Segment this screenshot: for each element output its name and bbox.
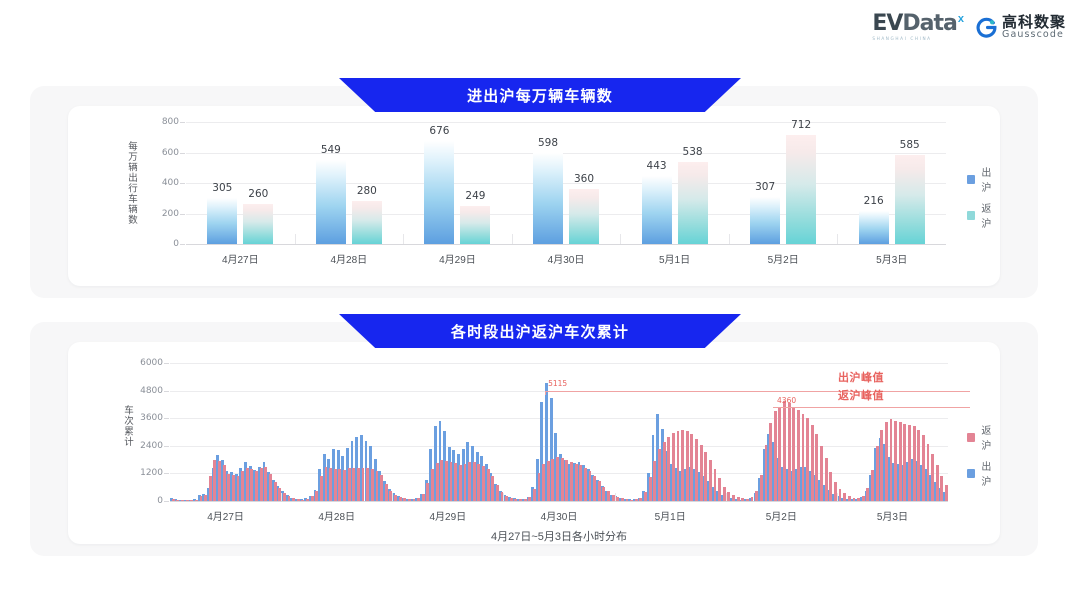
hour-bar-back — [459, 465, 462, 501]
hour-bar-back — [890, 419, 893, 501]
gausscode-logo: 高科数聚 Gausscode — [976, 15, 1066, 40]
bar-value-label: 598 — [538, 137, 558, 149]
hour-bar-back — [376, 471, 379, 501]
bar-value-label: 216 — [864, 195, 884, 207]
card-chart-2: 012002400360048006000车次累计4月27日4月28日4月29日… — [68, 342, 1000, 544]
hour-bar-back — [704, 452, 707, 501]
hour-bar-back — [829, 472, 832, 501]
peak-value-out: 5115 — [548, 379, 567, 388]
y-tick-mark — [164, 391, 169, 392]
y-tick-mark — [180, 183, 185, 184]
hour-bar-back — [727, 492, 730, 501]
x-tick-label: 5月2日 — [768, 251, 799, 266]
hour-bar-back — [514, 499, 517, 501]
chart-2-legend: 返沪出沪 — [967, 422, 1000, 488]
panel-chart-1: 0200400600800每万辆出行车辆数3052604月27日5492804月… — [30, 86, 1038, 298]
y-tick-label: 1200 — [140, 468, 163, 478]
y-tick-label: 0 — [173, 239, 179, 249]
hour-bar-back — [903, 424, 906, 501]
evdata-logo: EVData x SHANGHAI CHINA — [872, 13, 964, 41]
hour-bar-back — [815, 434, 818, 501]
hour-bar-back — [570, 462, 573, 501]
hour-bar-back — [269, 474, 272, 501]
axis-baseline — [170, 501, 948, 502]
hour-bar-back — [274, 482, 277, 501]
hour-bar-back — [940, 476, 943, 501]
x-tick-label: 4月30日 — [541, 508, 578, 523]
hour-bar-back — [862, 496, 865, 501]
hour-bar-back — [352, 468, 355, 501]
hour-bar-back — [755, 491, 758, 501]
hour-bar-back — [348, 468, 351, 501]
hour-bar-back — [547, 461, 550, 501]
legend-label: 出沪 — [981, 458, 1000, 488]
bar-value-label: 360 — [574, 173, 594, 185]
bar-value-label: 280 — [357, 185, 377, 197]
peak-line-out — [545, 391, 970, 392]
legend-swatch — [967, 469, 975, 478]
gridline — [186, 153, 946, 154]
card-chart-1: 0200400600800每万辆出行车辆数3052604月27日5492804月… — [68, 106, 1000, 286]
legend-swatch — [967, 211, 975, 220]
chart-2-title: 各时段出沪返沪车次累计 — [451, 321, 629, 342]
hour-bar-back — [482, 466, 485, 501]
hour-bar-back — [190, 500, 193, 501]
hour-bar-back — [195, 500, 198, 501]
hour-bar-back — [450, 462, 453, 501]
hour-bar-back — [255, 471, 258, 501]
logo-group: EVData x SHANGHAI CHINA 高科数聚 Gausscode — [872, 13, 1066, 41]
hour-bar-back — [223, 465, 226, 501]
x-group-separator — [729, 234, 730, 244]
bar-返沪: 249 — [460, 206, 490, 244]
hour-bar-back — [667, 437, 670, 501]
hour-bar-back — [565, 460, 568, 501]
hour-bar-back — [320, 476, 323, 501]
hour-bar-back — [283, 493, 286, 501]
hour-bar-back — [200, 496, 203, 501]
slide-root: EVData x SHANGHAI CHINA 高科数聚 Gausscode 0… — [0, 0, 1080, 608]
y-tick-mark — [164, 363, 169, 364]
x-group-separator — [403, 234, 404, 244]
panel-chart-2: 012002400360048006000车次累计4月27日4月28日4月29日… — [30, 322, 1038, 556]
hour-bar-back — [746, 499, 749, 501]
gridline — [186, 183, 946, 184]
hour-bar-back — [681, 430, 684, 501]
hour-bar-back — [176, 500, 179, 501]
hour-bar-back — [760, 475, 763, 501]
x-group-separator — [281, 493, 282, 501]
hour-bar-back — [403, 498, 406, 501]
x-tick-label: 5月2日 — [766, 508, 797, 523]
hour-bar-back — [593, 476, 596, 501]
hour-bar-back — [288, 496, 291, 501]
hour-bar-back — [209, 476, 212, 501]
hour-bar-back — [626, 499, 629, 501]
hour-bar-back — [232, 475, 235, 501]
hour-bar-back — [334, 469, 337, 501]
hour-bar-back — [306, 499, 309, 501]
y-tick-mark — [180, 244, 185, 245]
y-tick-mark — [164, 473, 169, 474]
hour-bar-back — [464, 464, 467, 501]
peak-stem-out — [545, 391, 546, 395]
x-group-separator — [295, 234, 296, 244]
hour-bar-back — [658, 449, 661, 501]
hour-bar-back — [246, 468, 249, 501]
hour-bar-back — [533, 489, 536, 501]
y-tick-mark — [180, 214, 185, 215]
axis-baseline — [186, 244, 946, 245]
chart-2-plot: 012002400360048006000车次累计4月27日4月28日4月29日… — [170, 363, 948, 501]
x-tick-label: 4月29日 — [430, 508, 467, 523]
gausscode-logo-cn: 高科数聚 — [1002, 15, 1066, 30]
hour-bar-back — [848, 496, 851, 501]
y-tick-mark — [164, 446, 169, 447]
bar-出沪: 676 — [424, 141, 454, 244]
y-tick-label: 200 — [162, 209, 179, 219]
x-tick-label: 5月3日 — [877, 508, 908, 523]
hour-bar-back — [908, 425, 911, 501]
hour-bar-back — [598, 481, 601, 501]
hour-bar-back — [936, 465, 939, 501]
y-tick-mark — [164, 418, 169, 419]
legend-swatch — [967, 175, 975, 184]
y-tick-label: 800 — [162, 117, 179, 127]
hour-bar-back — [561, 458, 564, 501]
hour-bar-back — [843, 493, 846, 501]
hour-bar-back — [714, 469, 717, 501]
evdata-logo-ev: EV — [872, 11, 902, 36]
hour-bar-back — [695, 439, 698, 501]
bar-出沪: 307 — [750, 197, 780, 244]
hour-bar-back — [880, 430, 883, 501]
hour-bar-back — [366, 468, 369, 501]
hour-bar-back — [802, 414, 805, 501]
hour-bar-back — [737, 497, 740, 501]
x-group-separator — [837, 493, 838, 501]
bar-value-label: 676 — [429, 125, 449, 137]
hour-bar-back — [505, 496, 508, 501]
bar-value-label: 538 — [683, 146, 703, 158]
bar-返沪: 712 — [786, 135, 816, 244]
bar-出沪: 443 — [642, 176, 672, 244]
hour-bar-back — [487, 469, 490, 501]
hour-bar-back — [297, 499, 300, 501]
y-tick-mark — [180, 153, 185, 154]
peak-value-back: 4360 — [777, 396, 796, 405]
hour-bar-back — [778, 407, 781, 501]
hour-bar-back — [343, 470, 346, 501]
hour-bar-back — [385, 484, 388, 501]
hour-bar-back — [454, 463, 457, 501]
hour-bar-back — [927, 444, 930, 502]
hour-bar-back — [213, 460, 216, 501]
hour-bar-back — [371, 469, 374, 501]
gridline — [170, 446, 948, 447]
hour-bar-back — [709, 460, 712, 501]
x-tick-label: 4月28日 — [331, 251, 368, 266]
hour-bar-back — [922, 435, 925, 501]
legend-item: 返沪 — [967, 200, 1000, 230]
hour-bar-back — [769, 423, 772, 501]
legend-label: 返沪 — [981, 422, 1000, 452]
y-tick-mark — [180, 122, 185, 123]
hour-bar-back — [357, 468, 360, 501]
hour-bar-back — [237, 476, 240, 501]
hour-bar-back — [445, 461, 448, 501]
bar-value-label: 305 — [212, 182, 232, 194]
y-tick-label: 3600 — [140, 413, 163, 423]
hour-bar-back — [528, 497, 531, 501]
hour-bar-back — [894, 421, 897, 502]
x-group-separator — [512, 234, 513, 244]
y-tick-label: 4800 — [140, 386, 163, 396]
y-tick-label: 400 — [162, 178, 179, 188]
x-group-separator — [620, 234, 621, 244]
hour-bar-back — [431, 469, 434, 501]
x-group-separator — [837, 234, 838, 244]
hour-bar-back — [589, 471, 592, 501]
peak-line-back — [773, 407, 970, 408]
peak-label-out: 出沪峰值 — [838, 369, 884, 385]
hour-bar-back — [811, 425, 814, 501]
bar-value-label: 443 — [647, 160, 667, 172]
hour-bar-back — [468, 462, 471, 501]
hour-bar-back — [866, 488, 869, 501]
hour-bar-back — [602, 487, 605, 501]
hour-bar-back — [732, 495, 735, 501]
hour-bar-back — [653, 461, 656, 501]
hour-bar-back — [218, 461, 221, 501]
x-tick-label: 5月3日 — [876, 251, 907, 266]
x-tick-label: 4月27日 — [207, 508, 244, 523]
bar-出沪: 216 — [859, 211, 889, 244]
evdata-logo-main: EVData x — [872, 13, 964, 35]
hour-bar-back — [765, 445, 768, 501]
chart-1-title-banner: 进出沪每万辆车辆数 — [339, 78, 741, 112]
bar-出沪: 305 — [207, 198, 237, 245]
hour-bar-back — [491, 476, 494, 501]
hour-bar-back — [899, 422, 902, 501]
hour-bar-back — [399, 497, 402, 501]
bar-value-label: 260 — [248, 188, 268, 200]
chart-1-legend: 出沪返沪 — [967, 164, 1000, 230]
hour-bar-back — [690, 434, 693, 501]
chart-1-plot: 0200400600800每万辆出行车辆数3052604月27日5492804月… — [186, 122, 946, 244]
hour-bar-back — [325, 467, 328, 501]
hour-bar-back — [575, 464, 578, 501]
hour-bar-back — [510, 498, 513, 501]
hour-bar-back — [797, 410, 800, 501]
x-tick-label: 5月1日 — [655, 508, 686, 523]
hour-bar-back — [556, 457, 559, 501]
hour-bar-back — [250, 469, 253, 501]
hour-bar-back — [677, 431, 680, 501]
bar-value-label: 307 — [755, 181, 775, 193]
legend-label: 返沪 — [981, 200, 1000, 230]
bar-value-label: 249 — [465, 190, 485, 202]
hour-bar-back — [630, 500, 633, 501]
hour-bar-back — [931, 454, 934, 501]
hour-bar-back — [820, 446, 823, 501]
x-group-separator — [726, 493, 727, 501]
hour-bar-back — [473, 462, 476, 501]
bar-出沪: 598 — [533, 153, 563, 244]
hour-bar-back — [917, 430, 920, 501]
hour-bar-back — [477, 464, 480, 501]
bar-返沪: 260 — [243, 204, 273, 244]
evdata-logo-data: Data — [902, 11, 956, 36]
x-group-separator — [503, 493, 504, 501]
hour-bar-back — [380, 475, 383, 501]
gridline — [170, 418, 948, 419]
hour-bar-back — [857, 498, 860, 501]
hour-bar-back — [788, 403, 791, 501]
hour-bar-back — [718, 478, 721, 501]
hour-bar-back — [519, 499, 522, 501]
bar-返沪: 360 — [569, 189, 599, 244]
evdata-logo-sub: SHANGHAI CHINA — [872, 37, 931, 41]
legend-swatch — [967, 433, 975, 442]
hour-bar-back — [329, 468, 332, 501]
header: EVData x SHANGHAI CHINA 高科数聚 Gausscode — [0, 0, 1080, 62]
bar-value-label: 549 — [321, 144, 341, 156]
x-tick-label: 4月28日 — [318, 508, 355, 523]
hour-bar-back — [417, 498, 420, 501]
legend-item: 出沪 — [967, 458, 1000, 488]
hour-bar-back — [700, 445, 703, 501]
x-tick-label: 4月29日 — [439, 251, 476, 266]
x-group-separator — [392, 493, 393, 501]
hour-bar-back — [607, 491, 610, 501]
gridline — [170, 363, 948, 364]
chart-2-yaxis-label: 车次累计 — [120, 377, 134, 475]
x-tick-label: 4月30日 — [548, 251, 585, 266]
bar-返沪: 538 — [678, 162, 708, 244]
hour-bar-back — [672, 433, 675, 501]
bar-返沪: 585 — [895, 155, 925, 244]
y-tick-label: 0 — [157, 496, 163, 506]
hour-bar-back — [945, 485, 948, 501]
evdata-logo-text: EVData — [872, 13, 957, 35]
chart-2-xaxis-title: 4月27日~5月3日各小时分布 — [491, 528, 627, 544]
hour-bar-back — [440, 460, 443, 501]
y-tick-label: 2400 — [140, 441, 163, 451]
gridline — [186, 122, 946, 123]
hour-bar-back — [292, 498, 295, 501]
hour-bar-back — [301, 500, 304, 501]
hour-bar-back — [413, 499, 416, 501]
hour-bar-back — [315, 491, 318, 501]
hour-bar-back — [885, 422, 888, 501]
y-tick-label: 6000 — [140, 358, 163, 368]
hour-bar-back — [839, 489, 842, 501]
x-group-separator — [615, 493, 616, 501]
hour-bar-back — [181, 500, 184, 501]
peak-label-back: 返沪峰值 — [838, 387, 884, 403]
hour-bar-back — [542, 464, 545, 501]
bar-返沪: 280 — [352, 201, 382, 244]
x-tick-label: 4月27日 — [222, 251, 259, 266]
hour-bar-back — [792, 407, 795, 501]
hour-bar-back — [663, 442, 666, 501]
gridline — [186, 214, 946, 215]
bar-value-label: 712 — [791, 119, 811, 131]
chart-2-title-banner: 各时段出沪返沪车次累计 — [339, 314, 741, 348]
hour-bar-back — [825, 458, 828, 501]
chart-1-title: 进出沪每万辆车辆数 — [467, 85, 613, 106]
hour-bar-back — [551, 459, 554, 501]
hour-bar-back — [913, 426, 916, 501]
hour-bar-back — [686, 431, 689, 501]
hour-bar-back — [496, 485, 499, 501]
legend-label: 出沪 — [981, 164, 1000, 194]
hour-bar-back — [774, 411, 777, 501]
hour-bar-back — [260, 468, 263, 501]
hour-bar-back — [649, 477, 652, 501]
chart-1-yaxis-label: 每万辆出行车辆数 — [124, 126, 138, 240]
hour-bar-back — [579, 465, 582, 501]
hour-bar-back — [853, 498, 856, 501]
hour-bar-back — [524, 499, 527, 501]
hour-bar-back — [783, 401, 786, 501]
gausscode-logo-en: Gausscode — [1002, 30, 1066, 40]
x-tick-label: 5月1日 — [659, 251, 690, 266]
hour-bar-back — [751, 497, 754, 501]
gausscode-mark-icon — [976, 17, 997, 38]
hour-bar-back — [394, 495, 397, 501]
hour-bar-back — [311, 496, 314, 501]
bar-value-label: 585 — [900, 139, 920, 151]
hour-bar-back — [621, 498, 624, 501]
hour-bar-back — [186, 500, 189, 501]
hour-bar-back — [204, 495, 207, 501]
hour-bar-back — [362, 468, 365, 501]
evdata-x-icon: x — [958, 14, 964, 25]
hour-bar-back — [436, 463, 439, 501]
hour-bar-back — [264, 467, 267, 502]
hour-bar-back — [338, 469, 341, 501]
hour-bar-back — [408, 499, 411, 501]
hour-bar-back — [644, 492, 647, 501]
hour-bar-back — [871, 470, 874, 501]
hour-bar-back — [876, 446, 879, 501]
legend-item: 出沪 — [967, 164, 1000, 194]
hour-bar-back — [639, 498, 642, 501]
hour-bar-back — [806, 418, 809, 501]
hour-bar-back — [422, 494, 425, 501]
y-tick-mark — [164, 501, 169, 502]
y-tick-label: 600 — [162, 148, 179, 158]
hour-bar-back — [741, 498, 744, 501]
hour-bar-back — [616, 497, 619, 501]
hour-bar-back — [227, 474, 230, 501]
hour-bar-back — [538, 473, 541, 501]
hour-bar-back — [635, 499, 638, 501]
gausscode-logo-text: 高科数聚 Gausscode — [1002, 15, 1066, 40]
bar-出沪: 549 — [316, 160, 346, 244]
legend-item: 返沪 — [967, 422, 1000, 452]
hour-bar-back — [584, 468, 587, 501]
hour-bar-back — [426, 483, 429, 501]
hour-bar-back — [172, 499, 175, 501]
hour-bar-back — [241, 471, 244, 501]
